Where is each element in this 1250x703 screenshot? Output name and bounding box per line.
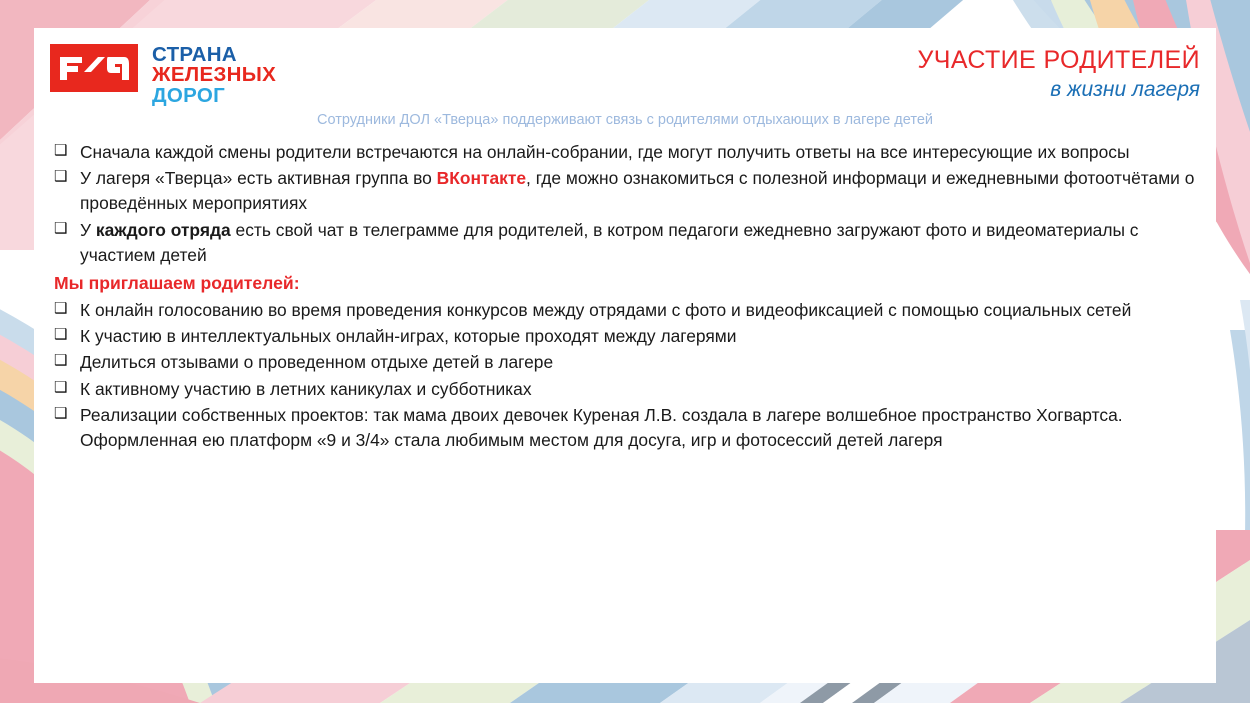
plain-text: У (80, 220, 96, 240)
list-item-text: У лагеря «Тверца» есть активная группа в… (80, 166, 1212, 216)
slide-header: СТРАНА ЖЕЛЕЗНЫХ ДОРОГ УЧАСТИЕ РОДИТЕЛЕЙ … (34, 28, 1216, 132)
page-title: УЧАСТИЕ РОДИТЕЛЕЙ в жизни лагеря (918, 46, 1200, 102)
header-banner-text: Сотрудники ДОЛ «Тверца» поддерживают свя… (34, 112, 1216, 128)
list-item-text: Реализации собственных проектов: так мам… (80, 403, 1212, 453)
list-item-text: Сначала каждой смены родители встречаютс… (80, 140, 1212, 165)
logo-line-2: ЖЕЛЕЗНЫХ (152, 65, 276, 85)
list-item: ❑К участию в интеллектуальных онлайн-игр… (52, 324, 1212, 349)
bullet-box-icon: ❑ (52, 140, 80, 163)
vk-link-text: ВКонтакте (437, 168, 526, 188)
list-item-text: К активному участию в летних каникулах и… (80, 377, 1212, 402)
list-item: ❑У лагеря «Тверца» есть активная группа … (52, 166, 1212, 216)
bullet-list-top: ❑Сначала каждой смены родители встречают… (52, 140, 1212, 268)
bullet-box-icon: ❑ (52, 377, 80, 400)
section-heading: Мы приглашаем родителей: (54, 271, 1212, 296)
list-item: ❑У каждого отряда есть свой чат в телегр… (52, 218, 1212, 268)
slide-content-card: СТРАНА ЖЕЛЕЗНЫХ ДОРОГ УЧАСТИЕ РОДИТЕЛЕЙ … (34, 28, 1216, 683)
logo-line-3: ДОРОГ (152, 86, 276, 106)
plain-text: есть свой чат в телеграмме для родителей… (80, 220, 1139, 265)
bullet-box-icon: ❑ (52, 350, 80, 373)
list-item: ❑Реализации собственных проектов: так ма… (52, 403, 1212, 453)
list-item-text: У каждого отряда есть свой чат в телегра… (80, 218, 1212, 268)
plain-text: Реализации собственных проектов: так мам… (80, 405, 1123, 450)
list-item-text: К участию в интеллектуальных онлайн-игра… (80, 324, 1212, 349)
title-main: УЧАСТИЕ РОДИТЕЛЕЙ (918, 46, 1200, 75)
bullet-box-icon: ❑ (52, 166, 80, 189)
rzd-logo-wordmark: СТРАНА ЖЕЛЕЗНЫХ ДОРОГ (152, 44, 276, 106)
title-subtitle: в жизни лагеря (918, 77, 1200, 102)
rzd-logo: СТРАНА ЖЕЛЕЗНЫХ ДОРОГ (50, 44, 276, 106)
slide-canvas: СТРАНА ЖЕЛЕЗНЫХ ДОРОГ УЧАСТИЕ РОДИТЕЛЕЙ … (0, 0, 1250, 703)
list-item: ❑Делиться отзывами о проведенном отдыхе … (52, 350, 1212, 375)
list-item: ❑К онлайн голосованию во время проведени… (52, 298, 1212, 323)
slide-body: ❑Сначала каждой смены родители встречают… (52, 140, 1212, 454)
bullet-box-icon: ❑ (52, 324, 80, 347)
bullet-box-icon: ❑ (52, 403, 80, 426)
logo-line-1: СТРАНА (152, 45, 276, 65)
list-item: ❑К активному участию в летних каникулах … (52, 377, 1212, 402)
rzd-logo-icon (50, 44, 138, 92)
plain-text: У лагеря «Тверца» есть активная группа в… (80, 168, 437, 188)
bullet-box-icon: ❑ (52, 218, 80, 241)
bullet-box-icon: ❑ (52, 298, 80, 321)
emphasis-text: каждого отряда (96, 220, 231, 240)
plain-text: Делиться отзывами о проведенном отдыхе д… (80, 352, 553, 372)
list-item-text: Делиться отзывами о проведенном отдыхе д… (80, 350, 1212, 375)
plain-text: Сначала каждой смены родители встречаютс… (80, 142, 1129, 162)
bullet-list-bottom: ❑К онлайн голосованию во время проведени… (52, 298, 1212, 453)
list-item: ❑Сначала каждой смены родители встречают… (52, 140, 1212, 165)
plain-text: К участию в интеллектуальных онлайн-игра… (80, 326, 736, 346)
list-item-text: К онлайн голосованию во время проведения… (80, 298, 1212, 323)
plain-text: К онлайн голосованию во время проведения… (80, 300, 1131, 320)
plain-text: К активному участию в летних каникулах и… (80, 379, 532, 399)
